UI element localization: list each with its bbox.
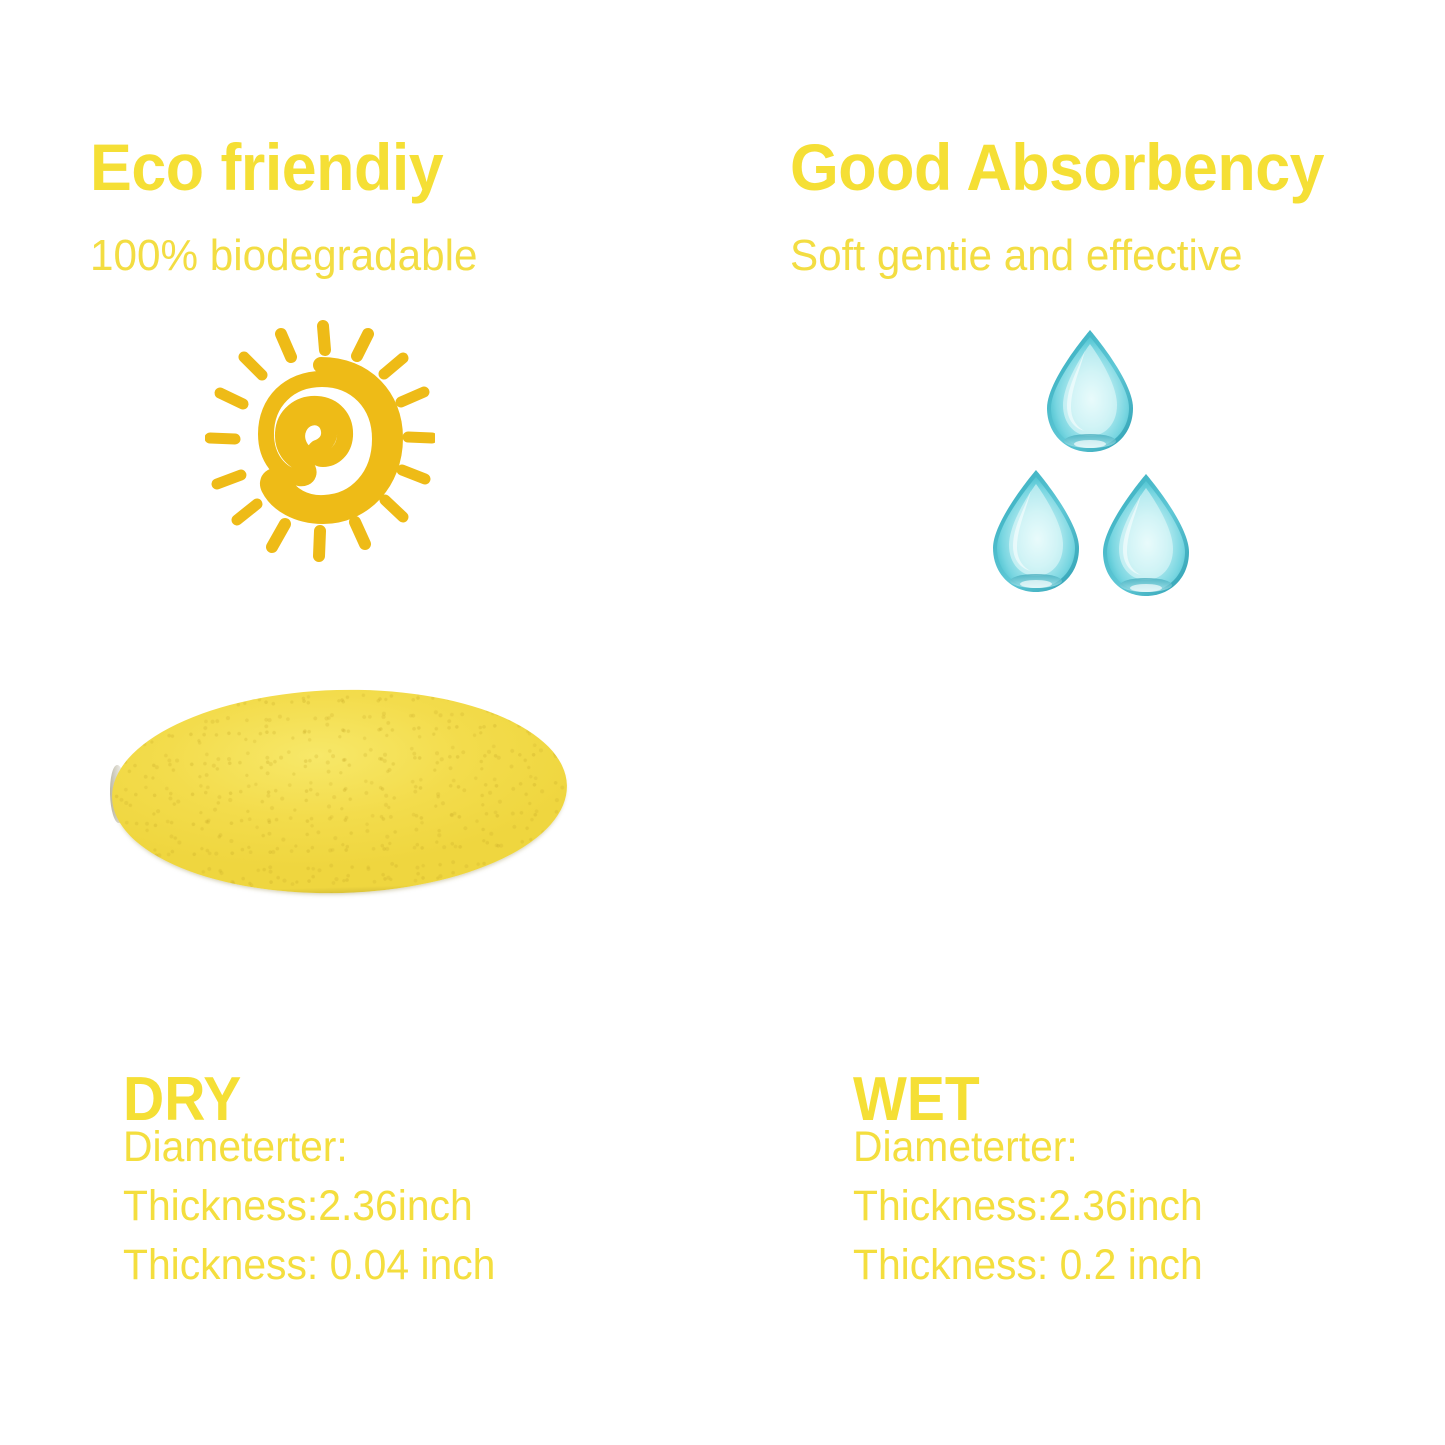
spec-list-wet: Diameterter: Thickness:2.36inch Thicknes…	[853, 1118, 1221, 1295]
panel-heading-eco-friendly: Eco friendiy	[90, 134, 443, 200]
panel-subheading-good-absorbency: Soft gentie and effective	[790, 234, 1242, 278]
spec-line-thickness-lower: Thickness: 0.2 inch	[853, 1236, 1203, 1295]
panel-good-absorbency: Good Absorbency Soft gentie and effectiv…	[723, 0, 1445, 1445]
spec-line-diameter: Diameterter:	[853, 1118, 1203, 1177]
spec-line-thickness-upper: Thickness:2.36inch	[853, 1177, 1203, 1236]
water-droplets-icon	[973, 320, 1203, 605]
spec-line-thickness-upper: Thickness:2.36inch	[123, 1177, 495, 1236]
panel-heading-good-absorbency: Good Absorbency	[790, 134, 1324, 200]
water-droplet-bottom-left	[993, 470, 1079, 592]
spec-list-dry: Diameterter: Thickness:2.36inch Thicknes…	[123, 1118, 515, 1295]
panel-subheading-eco-friendly: 100% biodegradable	[90, 234, 478, 278]
spec-line-diameter: Diameterter:	[123, 1118, 495, 1177]
dry-sponge-image	[109, 684, 569, 900]
water-droplet-top	[1047, 330, 1133, 452]
water-droplet-bottom-right	[1103, 474, 1189, 596]
spec-line-thickness-lower: Thickness: 0.04 inch	[123, 1236, 495, 1295]
panel-eco-friendly: Eco friendiy 100% biodegradable	[0, 0, 722, 1445]
sun-icon	[205, 320, 435, 580]
